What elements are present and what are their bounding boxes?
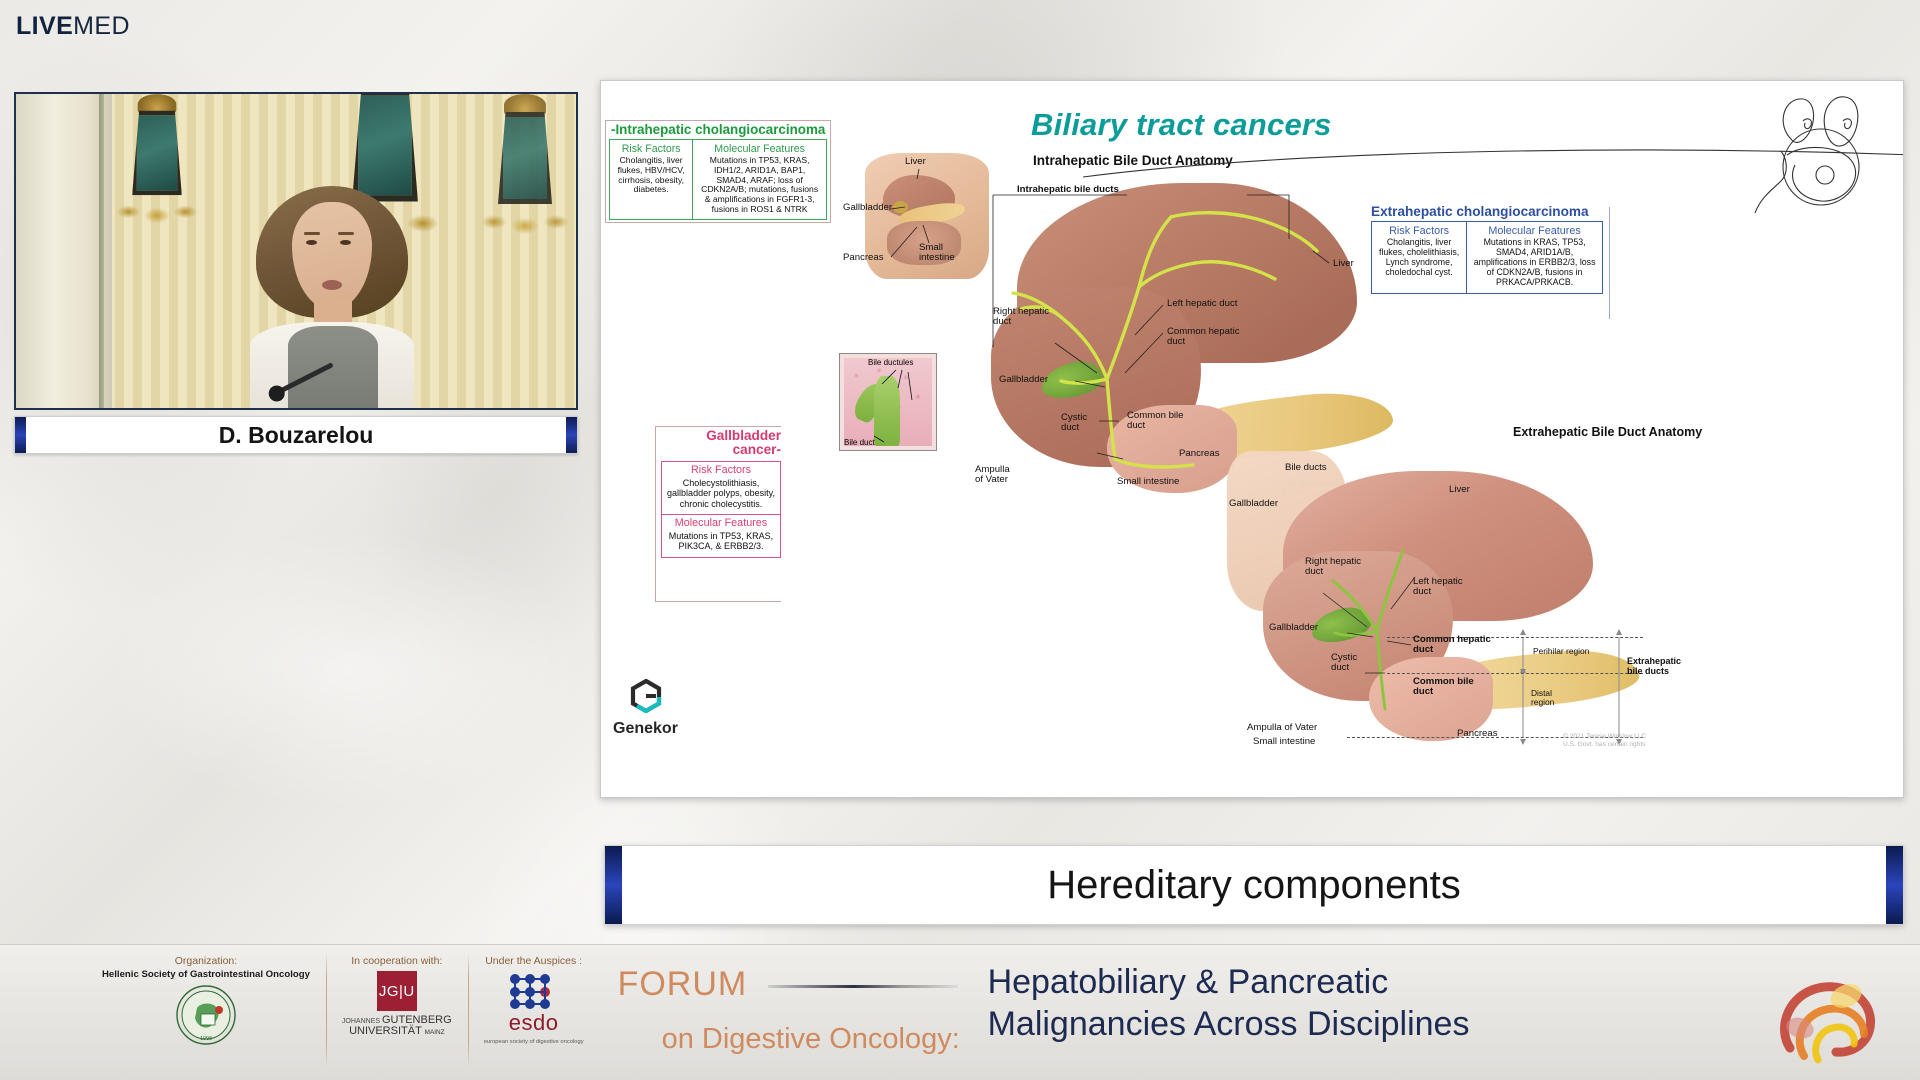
extrahepatic-bile-duct-illustration: Liver Bile ducts Gallbladder Right hepat… [1227, 441, 1687, 751]
bile-ductule-inset: Bile ductules Bile duct [839, 353, 937, 451]
event-title-block: FORUM on Digestive Oncology: Hepatobilia… [600, 945, 1920, 1080]
torso-pancreas-label: Pancreas [843, 253, 884, 263]
extrahepatic-molecular-text: Mutations in KRAS, TP53, SMAD4, ARID1A/B… [1471, 238, 1598, 288]
gallbladder-info-box: Gallbladder cancer- Risk Factors Cholecy… [661, 429, 781, 558]
extrahepatic-gallbladder-top-label: Gallbladder [1229, 499, 1278, 509]
intrahepatic-bile-ducts-label: Intrahepatic bile ducts [1017, 185, 1119, 195]
ampulla-of-vater-label: Ampulla of Vater [975, 465, 1010, 486]
forum-heading-group: FORUM on Digestive Oncology: [618, 967, 998, 1054]
event-footer: Organization: Hellenic Society of Gastro… [0, 944, 1920, 1080]
intrahepatic-small-intestine-label: Small intestine [1117, 477, 1179, 487]
video-pillar [16, 94, 112, 408]
event-main-title: Hepatobiliary & Pancreatic Malignancies … [988, 961, 1470, 1045]
esdo-name: esdo [509, 1012, 559, 1034]
extrahepatic-molecular-column: Molecular Features Mutations in KRAS, TP… [1467, 222, 1602, 293]
extrahepatic-anatomy-subtitle: Extrahepatic Bile Duct Anatomy [1513, 425, 1702, 439]
forum-word: FORUM [618, 967, 998, 1001]
jgu-universitat: UNIVERSITÄT [349, 1025, 422, 1037]
event-title-line1: Hepatobiliary & Pancreatic [988, 961, 1470, 1003]
speaker-figure [248, 140, 416, 408]
perihilar-bottom-divider [1387, 673, 1643, 674]
extrahepatic-molecular-header: Molecular Features [1471, 225, 1598, 237]
jgu-university-name: JOHANNES GUTENBERG UNIVERSITÄT MAINZ [342, 1015, 452, 1037]
common-hepatic-duct-label: Common hepatic duct [1167, 327, 1240, 348]
intrahepatic-gallbladder-label: Gallbladder [999, 375, 1048, 385]
extrahepatic-left-hepatic-duct-label: Left hepatic duct [1413, 577, 1463, 598]
extrahepatic-cystic-duct-label: Cystic duct [1331, 653, 1357, 674]
hellenic-society-seal-icon: 1998 [175, 984, 237, 1046]
organization-block: Organization: Hellenic Society of Gastro… [86, 945, 326, 1080]
genekor-logo: Genekor [613, 679, 678, 738]
genekor-name: Genekor [613, 720, 678, 738]
logo-live-text: LIVE [16, 12, 73, 40]
svg-text:1998: 1998 [200, 1036, 212, 1042]
torso-gallbladder-label: Gallbladder [843, 203, 892, 213]
livemed-logo[interactable]: LIVEMED [16, 14, 130, 39]
intrahepatic-liver-label: Liver [1333, 259, 1354, 269]
extrahepatic-gallbladder-label: Gallbladder [1269, 623, 1318, 633]
torso-small-intestine-label: Small intestine [919, 243, 955, 264]
esdo-subtitle: european society of digestive oncology [484, 1039, 584, 1045]
auspices-kicker: Under the Auspices : [485, 955, 582, 967]
extrahepatic-common-bile-duct-label: Common bile duct [1413, 677, 1474, 698]
event-swirl-emblem-icon [1760, 956, 1894, 1074]
torso-liver-label: Liver [905, 157, 926, 167]
forum-rule [768, 985, 958, 988]
organization-kicker: Organization: [175, 955, 237, 967]
extrahepatic-bile-ducts-top-label: Bile ducts [1285, 463, 1327, 473]
organization-name: Hellenic Society of Gastrointestinal Onc… [102, 969, 310, 980]
extrahepatic-ampulla-label: Ampulla of Vater [1247, 723, 1317, 733]
jgu-johannes: JOHANNES [342, 1018, 380, 1025]
forum-subtitle: on Digestive Oncology: [662, 1025, 998, 1054]
extrahepatic-pancreas-label: Pancreas [1457, 729, 1498, 739]
cystic-duct-label: Cystic duct [1061, 413, 1087, 434]
speaker-name: D. Bouzarelou [219, 422, 374, 449]
left-hepatic-duct-label: Left hepatic duct [1167, 299, 1237, 309]
cooperation-kicker: In cooperation with: [351, 955, 442, 967]
speaker-panel: D. Bouzarelou [14, 92, 578, 454]
common-bile-duct-label: Common bile duct [1127, 411, 1184, 432]
extrahepatic-common-hepatic-duct-label: Common hepatic duct [1413, 635, 1491, 656]
intrahepatic-pancreas-label: Pancreas [1179, 449, 1220, 459]
distal-region-label: Distal region [1531, 689, 1554, 707]
perihilar-region-label: Perihilar region [1533, 647, 1589, 656]
extrahepatic-liver-label: Liver [1449, 485, 1470, 495]
auspices-block: Under the Auspices : esdo european socie… [468, 945, 600, 1080]
lantern-sconce-icon [121, 103, 193, 224]
jgu-logo-mark: JG|U [377, 971, 417, 1011]
cooperation-block: In cooperation with: JG|U JOHANNES GUTEN… [326, 945, 468, 1080]
intrahepatic-info-box: -Intrahepatic cholangiocarcinoma Risk Fa… [609, 123, 827, 220]
speaker-name-plate: D. Bouzarelou [14, 416, 578, 454]
slide-title: Biliary tract cancers [1031, 107, 1332, 143]
bile-ductules-label: Bile ductules [868, 358, 913, 367]
esdo-dots-icon [506, 971, 562, 1011]
lantern-sconce-icon [486, 104, 564, 236]
caption-bar: Hereditary components [604, 845, 1904, 925]
logo-med-text: MED [73, 12, 130, 40]
extrahepatic-bile-ducts-bracket-label: Extrahepatic bile ducts [1627, 657, 1681, 677]
genekor-hexagon-icon [629, 679, 663, 713]
bile-duct-label: Bile duct [844, 438, 875, 447]
extrahepatic-right-hepatic-duct-label: Right hepatic duct [1305, 557, 1361, 578]
presentation-slide[interactable]: Biliary tract cancers Intrahepatic Bile … [600, 80, 1904, 798]
event-title-line2: Malignancies Across Disciplines [988, 1003, 1470, 1045]
extrahepatic-small-intestine-label: Small intestine [1253, 737, 1315, 747]
right-hepatic-duct-label: Right hepatic duct [993, 307, 1049, 328]
speaker-video[interactable] [14, 92, 578, 410]
caption-text: Hereditary components [1047, 863, 1461, 908]
extrahepatic-copyright: © 2021 Terese Winslow LLC U.S. Govt. has… [1563, 733, 1646, 749]
jgu-mainz: MAINZ [425, 1029, 445, 1036]
jgu-gutenberg: GUTENBERG [382, 1014, 452, 1026]
sponsor-row: Organization: Hellenic Society of Gastro… [0, 945, 600, 1080]
